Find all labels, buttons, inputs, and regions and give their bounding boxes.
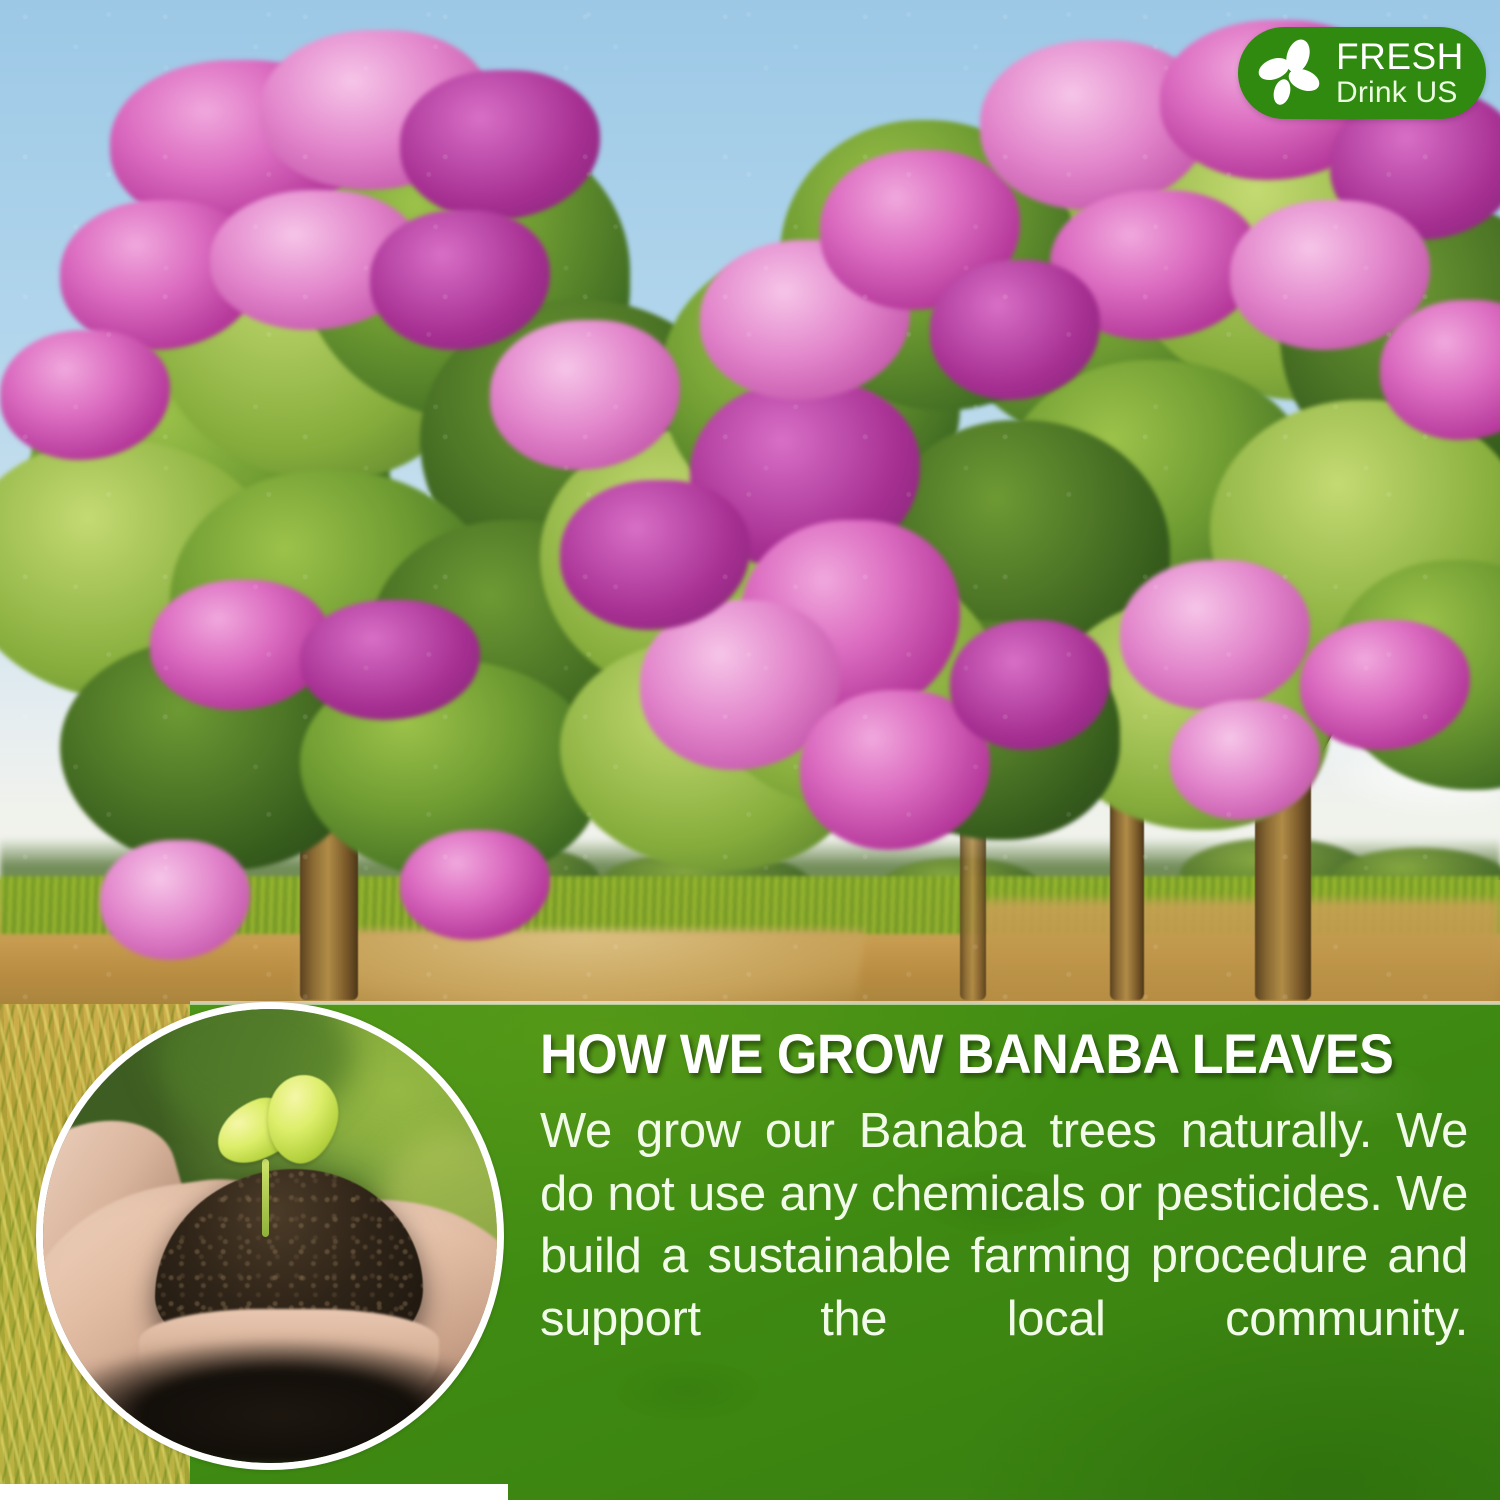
soil-ground-shadow: [43, 1337, 497, 1463]
page-title: HOW WE GROW BANABA LEAVES: [540, 1026, 1403, 1082]
body-paragraph: We grow our Banaba trees naturally. We d…: [540, 1100, 1468, 1414]
product-info-poster: FRESH Drink US HOW WE GROW BANABA LEAVES…: [0, 0, 1500, 1500]
dirt-clearing: [980, 900, 1500, 1010]
leaf-cluster-icon: [1254, 36, 1328, 110]
brand-logo-badge[interactable]: FRESH Drink US: [1238, 27, 1486, 119]
seedling-stem: [262, 1159, 269, 1237]
body-copy: We grow our Banaba trees naturally. We d…: [540, 1100, 1468, 1414]
hands-holding-seedling-photo: [43, 1009, 497, 1463]
logo-line-fresh: FRESH: [1336, 38, 1464, 75]
logo-line-drink-us: Drink US: [1336, 78, 1464, 108]
bottom-white-edge: [0, 1484, 508, 1500]
seedling-inset-frame: [36, 1002, 504, 1470]
panel-content: HOW WE GROW BANABA LEAVES We grow our Ba…: [540, 1026, 1468, 1414]
dirt-path: [294, 930, 865, 1010]
banaba-tree-grove-photo: [0, 0, 1500, 1010]
panel-top-divider: [190, 1001, 1500, 1005]
logo-text-block: FRESH Drink US: [1336, 38, 1464, 108]
